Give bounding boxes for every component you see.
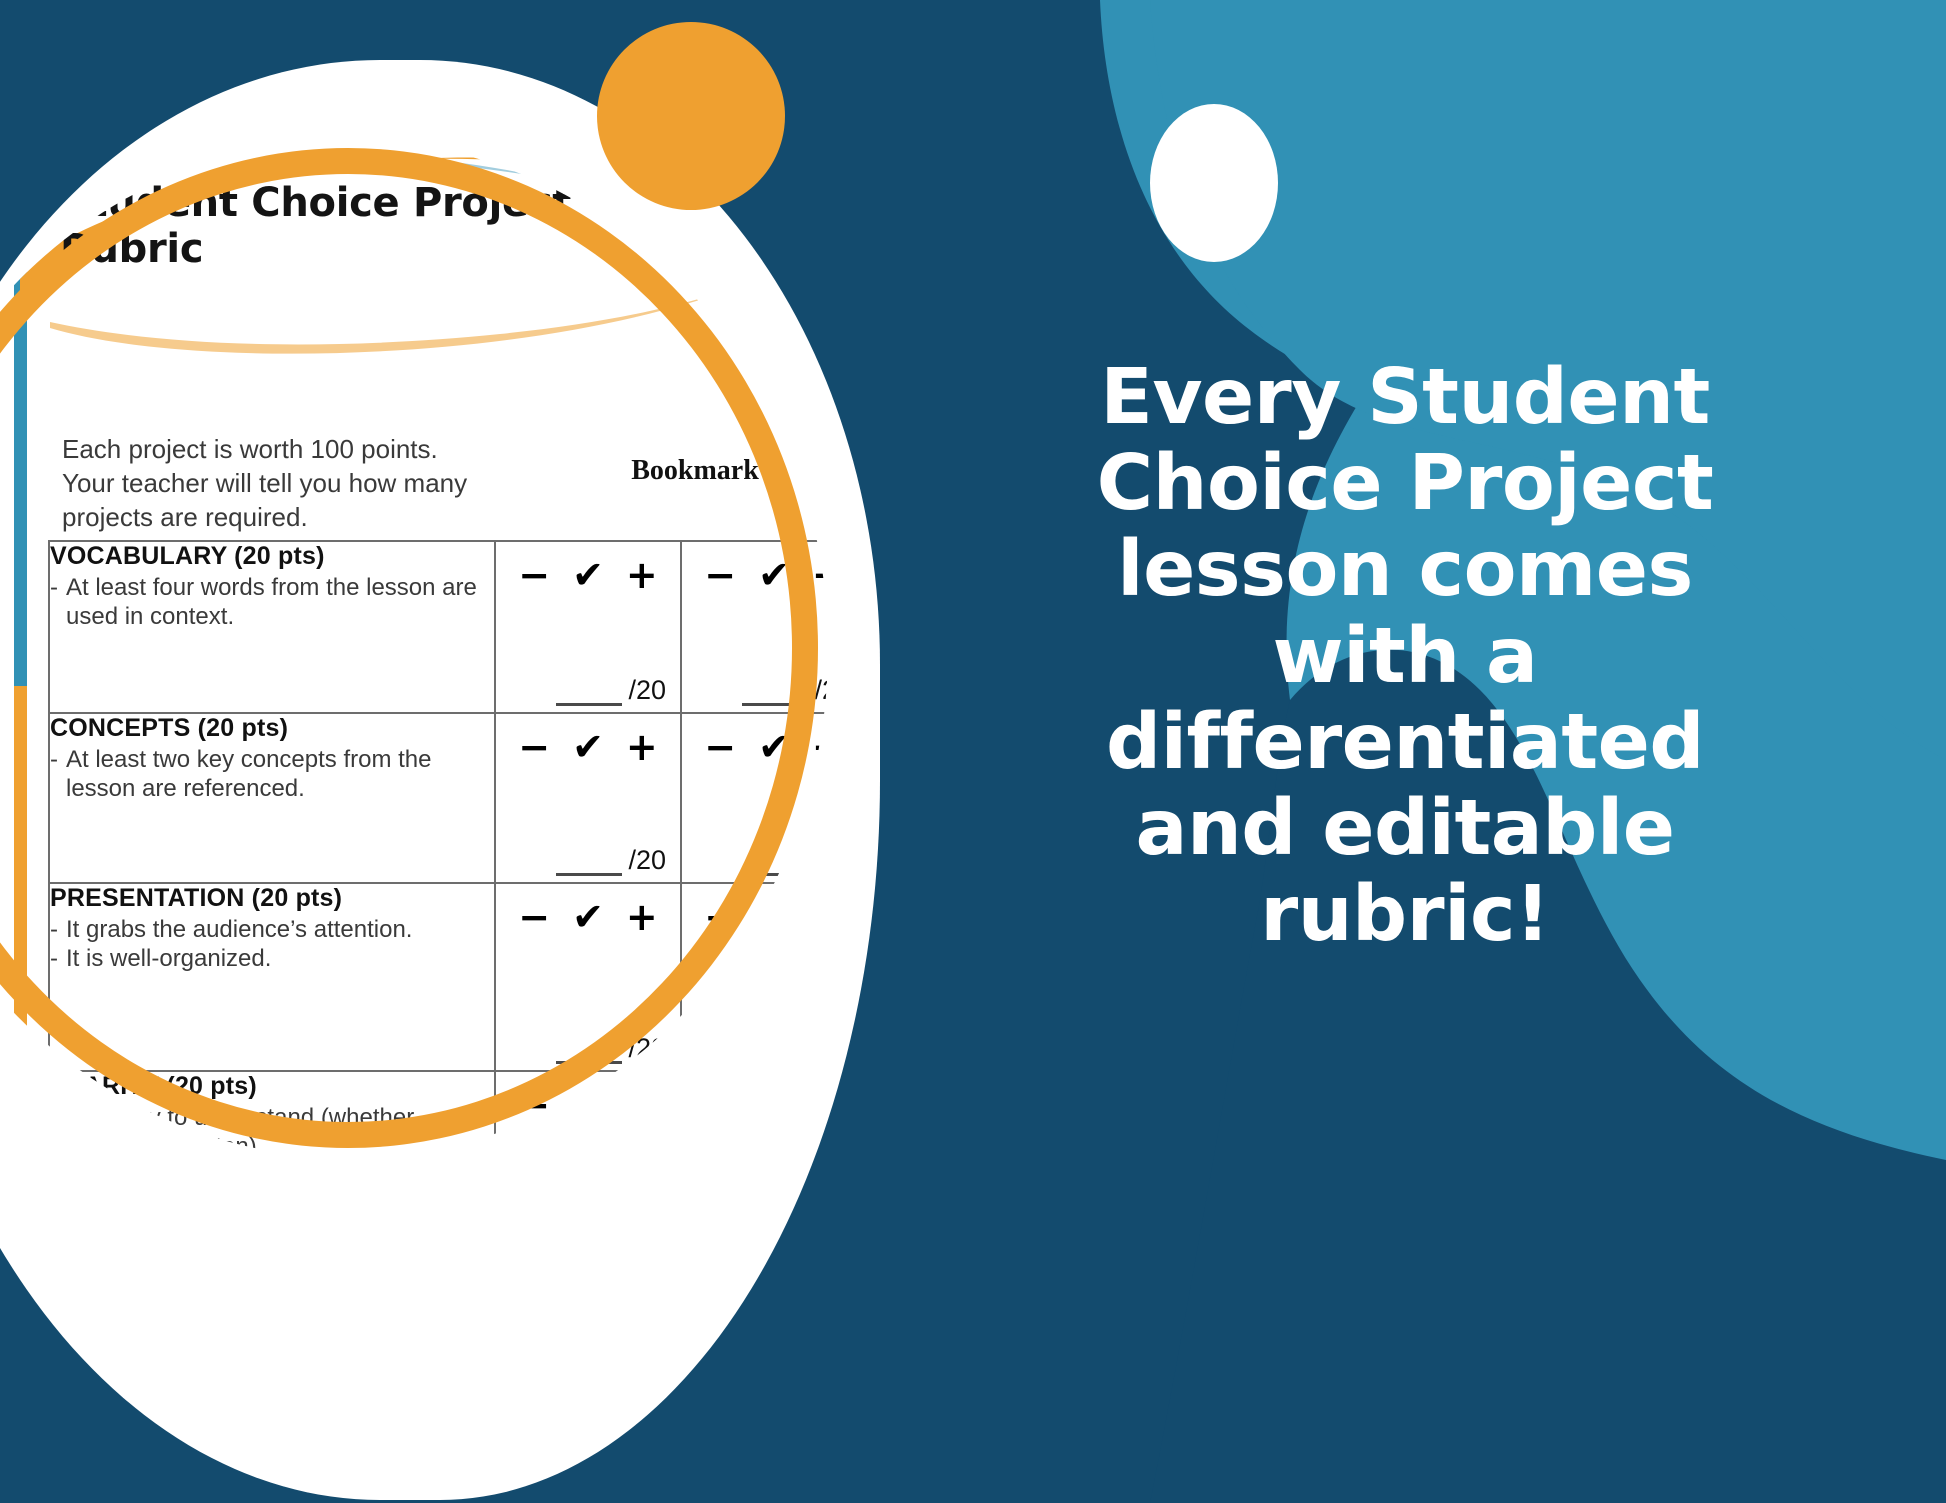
plus-mark-icon[interactable]: +	[812, 728, 828, 766]
criterion-title: PRESENTATION (20 pts)	[50, 884, 494, 913]
score-suffix: /20	[814, 845, 828, 876]
check-mark-icon[interactable]: ✔	[572, 556, 604, 594]
score-suffix: /20	[628, 845, 666, 876]
minus-mark-icon[interactable]: −	[704, 1086, 736, 1124]
criterion-bullet: - At least two key concepts from the les…	[50, 745, 494, 804]
table-row: VOCABULARY (20 pts) - At least four word…	[49, 541, 828, 713]
mark-options[interactable]: − ✔ +	[496, 884, 680, 936]
table-row: CONCEPTS (20 pts) - At least two key con…	[49, 713, 828, 883]
minus-mark-icon[interactable]: −	[518, 1086, 550, 1124]
headline-line-4: with a	[905, 614, 1905, 700]
bullet-dash: -	[50, 573, 58, 632]
headline-line-6: and editable	[905, 786, 1905, 872]
score-suffix: /20	[814, 675, 828, 706]
minus-mark-icon[interactable]: −	[704, 898, 736, 936]
score-cell-interpretive-dance[interactable]: − ✔ + /20	[681, 883, 828, 1071]
score-blank-line[interactable]	[556, 853, 622, 876]
score-suffix: /20	[814, 1033, 828, 1064]
criterion-bullet: - It is easy to understand (whether spok…	[50, 1103, 494, 1158]
check-mark-icon[interactable]: ✔	[758, 898, 790, 936]
table-row: CLARITY (20 pts) - It is easy to underst…	[49, 1071, 828, 1158]
check-mark-icon[interactable]: ✔	[758, 1086, 790, 1124]
score-cell-interpretive-dance[interactable]: − ✔ + /20	[681, 713, 828, 883]
criterion-title: CLARITY (20 pts)	[50, 1072, 494, 1101]
plus-mark-icon[interactable]: +	[812, 898, 828, 936]
headline-line-1: Every Student	[905, 355, 1905, 441]
criterion-cell: CONCEPTS (20 pts) - At least two key con…	[49, 713, 495, 883]
white-oval-decoration	[1150, 104, 1278, 262]
column-header-bookmark: Bookmark	[600, 455, 790, 487]
document-title: Student Choice Project Rubric	[60, 180, 700, 272]
minus-mark-icon[interactable]: −	[518, 556, 550, 594]
criterion-title: VOCABULARY (20 pts)	[50, 542, 494, 571]
headline-line-2: Choice Project	[905, 441, 1905, 527]
bullet-dash: -	[50, 1103, 58, 1158]
headline-line-5: differentiated	[905, 700, 1905, 786]
plus-mark-icon[interactable]: +	[812, 1086, 828, 1124]
criterion-cell: PRESENTATION (20 pts) - It grabs the aud…	[49, 883, 495, 1071]
minus-mark-icon[interactable]: −	[704, 728, 736, 766]
minus-mark-icon[interactable]: −	[704, 556, 736, 594]
score-entry[interactable]: /20	[556, 675, 666, 706]
mark-options[interactable]: − ✔ +	[496, 714, 680, 766]
criterion-cell: CLARITY (20 pts) - It is easy to underst…	[49, 1071, 495, 1158]
check-mark-icon[interactable]: ✔	[572, 728, 604, 766]
score-entry[interactable]: /20	[742, 675, 828, 706]
score-cell-interpretive-dance[interactable]: − ✔ + /20	[681, 541, 828, 713]
bullet-dash: -	[50, 944, 58, 973]
headline: Every Student Choice Project lesson come…	[905, 355, 1905, 959]
bullet-text: It is easy to understand (whether spoken…	[66, 1103, 494, 1158]
minus-mark-icon[interactable]: −	[518, 898, 550, 936]
bullet-dash: -	[50, 745, 58, 804]
criterion-bullet: - At least four words from the lesson ar…	[50, 573, 494, 632]
score-entry[interactable]: /20	[742, 1033, 828, 1064]
headline-line-7: rubric!	[905, 872, 1905, 958]
rubric-table: VOCABULARY (20 pts) - At least four word…	[48, 540, 828, 1158]
rubric-document-circle-frame: Student Choice Project Rubric Each proje…	[0, 140, 828, 1158]
score-cell-bookmark[interactable]: − ✔ + /20	[495, 1071, 681, 1158]
score-cell-interpretive-dance[interactable]: − ✔ + /20	[681, 1071, 828, 1158]
stripe-orange-segment	[14, 686, 27, 1158]
criterion-bullet: - It grabs the audience’s attention.	[50, 915, 494, 944]
criterion-title: CONCEPTS (20 pts)	[50, 714, 494, 743]
table-row: PRESENTATION (20 pts) - It grabs the aud…	[49, 883, 828, 1071]
mark-options[interactable]: − ✔ +	[682, 1072, 828, 1124]
score-blank-line[interactable]	[742, 683, 808, 706]
bullet-text: It grabs the audience’s attention.	[66, 915, 494, 944]
check-mark-icon[interactable]: ✔	[758, 728, 790, 766]
score-cell-bookmark[interactable]: − ✔ + /20	[495, 713, 681, 883]
score-entry[interactable]: /20	[556, 1033, 666, 1064]
headline-line-3: lesson comes	[905, 527, 1905, 613]
bullet-text: At least four words from the lesson are …	[66, 573, 494, 632]
score-blank-line[interactable]	[742, 853, 808, 876]
plus-mark-icon[interactable]: +	[626, 1086, 658, 1124]
rubric-document: Student Choice Project Rubric Each proje…	[0, 140, 828, 1158]
mark-options[interactable]: − ✔ +	[496, 542, 680, 594]
criterion-cell: VOCABULARY (20 pts) - At least four word…	[49, 541, 495, 713]
score-suffix: /20	[628, 1033, 666, 1064]
score-cell-bookmark[interactable]: − ✔ + /20	[495, 883, 681, 1071]
plus-mark-icon[interactable]: +	[812, 556, 828, 594]
check-mark-icon[interactable]: ✔	[572, 898, 604, 936]
minus-mark-icon[interactable]: −	[518, 728, 550, 766]
mark-options[interactable]: − ✔ +	[682, 884, 828, 936]
mark-options[interactable]: − ✔ +	[682, 542, 828, 594]
bullet-dash: -	[50, 915, 58, 944]
score-suffix: /20	[628, 675, 666, 706]
mark-options[interactable]: − ✔ +	[682, 714, 828, 766]
score-blank-line[interactable]	[742, 1041, 808, 1064]
document-title-line2: Rubric	[60, 226, 700, 272]
document-title-line1: Student Choice Project	[60, 180, 700, 226]
bullet-text: At least two key concepts from the lesso…	[66, 745, 494, 804]
criterion-bullet: - It is well-organized.	[50, 944, 494, 973]
score-blank-line[interactable]	[556, 683, 622, 706]
score-blank-line[interactable]	[556, 1041, 622, 1064]
bullet-text: It is well-organized.	[66, 944, 494, 973]
mark-options[interactable]: − ✔ +	[496, 1072, 680, 1124]
plus-mark-icon[interactable]: +	[626, 556, 658, 594]
score-entry[interactable]: /20	[742, 845, 828, 876]
check-mark-icon[interactable]: ✔	[758, 556, 790, 594]
plus-mark-icon[interactable]: +	[626, 728, 658, 766]
check-mark-icon[interactable]: ✔	[572, 1086, 604, 1124]
column-header-interpretive-dance: Interpretive Dance	[775, 432, 828, 496]
score-entry[interactable]: /20	[556, 845, 666, 876]
document-intro-text: Each project is worth 100 points. Your t…	[62, 433, 482, 534]
plus-mark-icon[interactable]: +	[626, 898, 658, 936]
score-cell-bookmark[interactable]: − ✔ + /20	[495, 541, 681, 713]
